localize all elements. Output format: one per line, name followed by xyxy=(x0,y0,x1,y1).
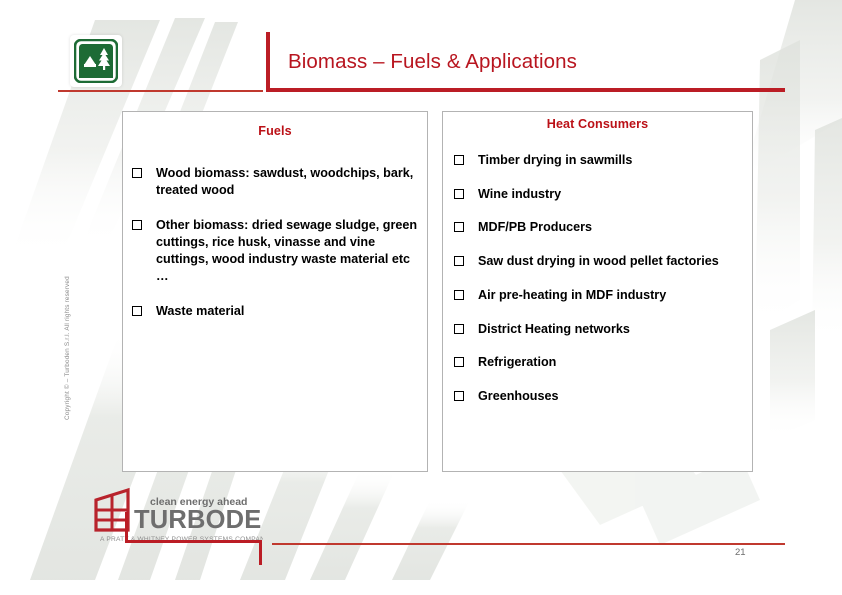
list-item-label: Refrigeration xyxy=(478,354,746,371)
brand-logo-badge xyxy=(70,35,122,87)
checkbox-bullet-icon xyxy=(132,220,142,230)
list-item-label: Greenhouses xyxy=(478,388,746,405)
list-item: District Heating networks xyxy=(454,321,746,338)
fuels-list: Wood biomass: sawdust, woodchips, bark, … xyxy=(123,165,427,320)
list-item-label: Other biomass: dried sewage sludge, gree… xyxy=(156,217,421,284)
checkbox-bullet-icon xyxy=(454,357,464,367)
page-title: Biomass – Fuels & Applications xyxy=(288,50,577,74)
checkbox-bullet-icon xyxy=(454,256,464,266)
list-item: Wine industry xyxy=(454,186,746,203)
list-item-label: District Heating networks xyxy=(478,321,746,338)
panel-fuels-heading: Fuels xyxy=(123,124,427,138)
list-item-label: Saw dust drying in wood pellet factories xyxy=(478,253,746,270)
list-item-label: Wine industry xyxy=(478,186,746,203)
copyright-text: Copyright © – Turboden S.r.l. All rights… xyxy=(64,240,71,420)
checkbox-bullet-icon xyxy=(132,306,142,316)
list-item-label: MDF/PB Producers xyxy=(478,219,746,236)
list-item: Timber drying in sawmills xyxy=(454,152,746,169)
footer-bracket-vertical xyxy=(259,543,262,565)
checkbox-bullet-icon xyxy=(454,290,464,300)
panel-fuels: Fuels Wood biomass: sawdust, woodchips, … xyxy=(122,111,428,472)
list-item: Waste material xyxy=(132,303,421,320)
footer-rule xyxy=(272,543,785,545)
logo-brand-name: TURBODEN xyxy=(134,506,263,534)
forest-tree-icon xyxy=(74,39,118,83)
list-item: Air pre-heating in MDF industry xyxy=(454,287,746,304)
checkbox-bullet-icon xyxy=(454,155,464,165)
turboden-logo: clean energy ahead TURBODEN A PRATT & WH… xyxy=(88,486,263,546)
panel-heat-consumers: Heat Consumers Timber drying in sawmills… xyxy=(442,111,753,472)
footer-bracket-horizontal xyxy=(125,540,262,543)
heat-consumers-list: Timber drying in sawmills Wine industry … xyxy=(443,152,752,405)
list-item: Saw dust drying in wood pellet factories xyxy=(454,253,746,270)
page-number: 21 xyxy=(735,547,746,558)
list-item-label: Waste material xyxy=(156,303,421,320)
checkbox-bullet-icon xyxy=(454,391,464,401)
title-rule-bottom xyxy=(266,88,785,92)
checkbox-bullet-icon xyxy=(454,324,464,334)
checkbox-bullet-icon xyxy=(132,168,142,178)
list-item: Greenhouses xyxy=(454,388,746,405)
title-bracket-vertical xyxy=(266,32,270,91)
list-item-label: Wood biomass: sawdust, woodchips, bark, … xyxy=(156,165,421,198)
list-item: MDF/PB Producers xyxy=(454,219,746,236)
panel-heat-consumers-heading: Heat Consumers xyxy=(443,117,752,131)
checkbox-bullet-icon xyxy=(454,222,464,232)
slide: Biomass – Fuels & Applications Copyright… xyxy=(0,0,842,595)
list-item: Refrigeration xyxy=(454,354,746,371)
footer-bracket-left xyxy=(125,512,128,542)
checkbox-bullet-icon xyxy=(454,189,464,199)
list-item-label: Air pre-heating in MDF industry xyxy=(478,287,746,304)
header-rule-left xyxy=(58,90,263,92)
list-item-label: Timber drying in sawmills xyxy=(478,152,746,169)
turboden-mark-icon xyxy=(96,490,128,530)
list-item: Wood biomass: sawdust, woodchips, bark, … xyxy=(132,165,421,198)
list-item: Other biomass: dried sewage sludge, gree… xyxy=(132,217,421,284)
